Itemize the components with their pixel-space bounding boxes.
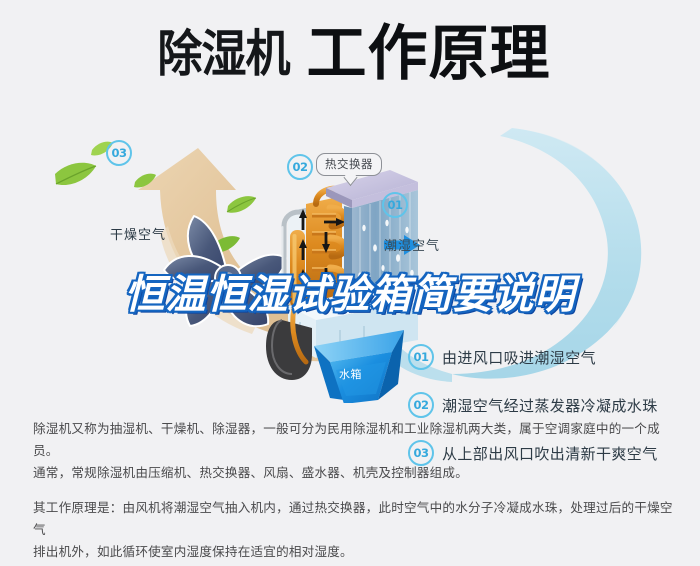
step-item: 02 潮湿空气经过蒸发器冷凝成水珠 xyxy=(408,394,698,416)
step-badge: 02 xyxy=(408,392,434,418)
body-copy: 除湿机又称为抽湿机、干燥机、除湿器，一般可分为民用除湿机和工业除湿机两大类，属于… xyxy=(33,418,673,563)
label-water-tank: 水箱 xyxy=(339,366,362,382)
dehumidifier-diagram: 03 干燥空气 02 热交换器 01 潮湿空气 水箱 01 由进风口吸进潮湿空气… xyxy=(0,108,700,403)
step-label: 潮湿空气经过蒸发器冷凝成水珠 xyxy=(442,395,658,416)
step-badge: 01 xyxy=(408,344,434,370)
badge-dry-air: 03 xyxy=(106,140,132,166)
label-humid-air: 潮湿空气 xyxy=(384,235,440,254)
label-dry-air: 干燥空气 xyxy=(110,224,166,243)
badge-heat-exchanger: 02 xyxy=(287,154,313,180)
paragraph2-line2: 排出机外，如此循环使室内湿度保持在适宜的相对湿度。 xyxy=(33,541,673,563)
step-item: 01 由进风口吸进潮湿空气 xyxy=(408,346,698,368)
paragraph1-line2: 通常，常规除湿机由压缩机、热交换器、风扇、盛水器、机壳及控制器组成。 xyxy=(33,462,673,484)
page-title-part1: 除湿机 xyxy=(157,29,289,79)
watermark-text: 恒温恒湿试验箱简要说明 xyxy=(0,262,700,320)
callout-heat-exchanger: 热交换器 xyxy=(316,153,382,176)
paragraph1-line1: 除湿机又称为抽湿机、干燥机、除湿器，一般可分为民用除湿机和工业除湿机两大类，属于… xyxy=(33,418,673,462)
paragraph2-line1: 其工作原理是：由风机将潮湿空气抽入机内，通过热交换器，此时空气中的水分子冷凝成水… xyxy=(33,497,673,541)
page-title: 除湿机工作原理 xyxy=(0,24,700,84)
page-root: 除湿机工作原理 xyxy=(0,0,700,566)
step-label: 由进风口吸进潮湿空气 xyxy=(442,347,596,368)
page-title-part2: 工作原理 xyxy=(307,24,551,84)
paragraph-spacer xyxy=(33,484,673,497)
badge-humid-air: 01 xyxy=(382,192,408,218)
